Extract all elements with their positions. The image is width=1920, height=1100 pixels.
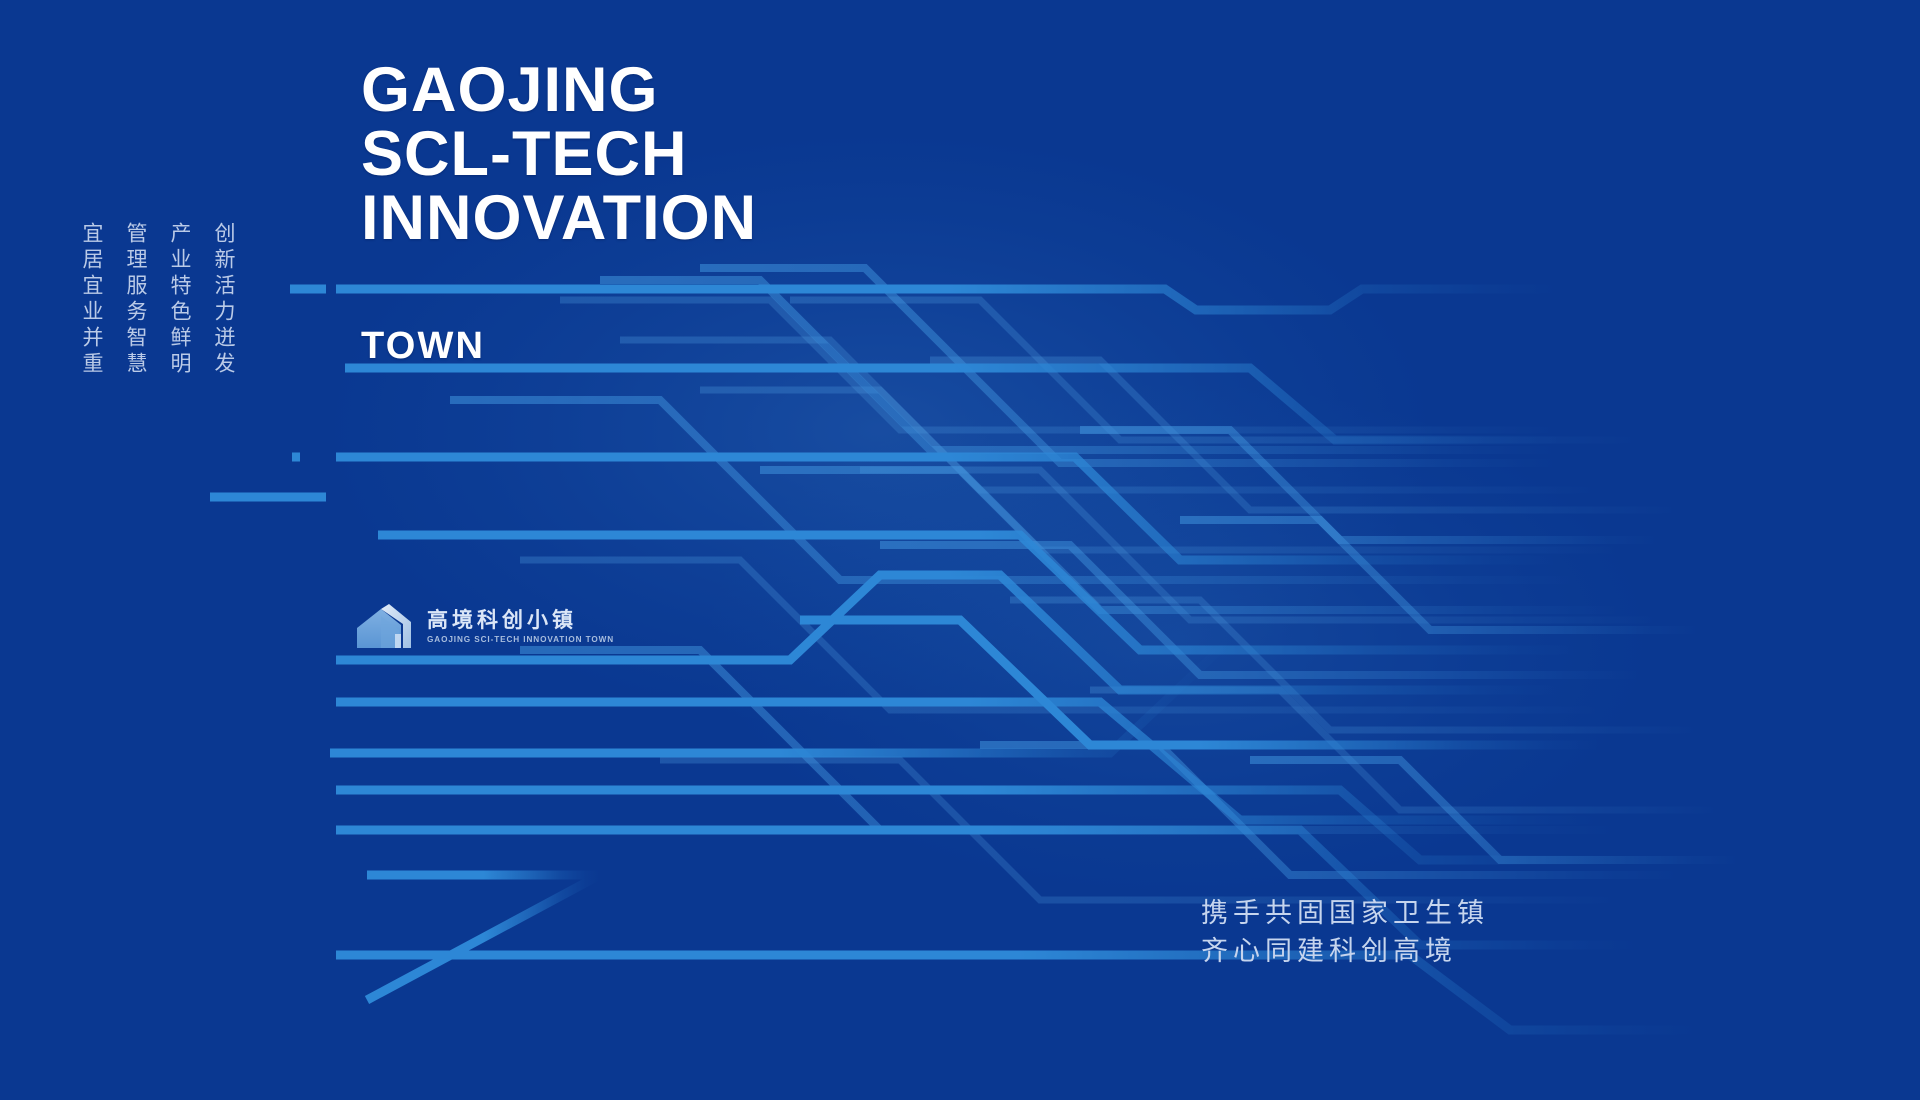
vertical-slogan-col-1: 创新活力迸发 (212, 222, 236, 378)
vertical-slogan-col-2: 产业特色鲜明 (168, 222, 192, 378)
title-line-3: INNOVATION (361, 186, 757, 250)
logo-english-name: GAOJING SCI-TECH INNOVATION TOWN (427, 634, 614, 646)
title-line-1: GAOJING (361, 58, 757, 122)
circuit-line-artwork (0, 0, 1920, 1100)
logo: 高境科创小镇 GAOJING SCI-TECH INNOVATION TOWN (355, 604, 614, 651)
logo-text-group: 高境科创小镇 GAOJING SCI-TECH INNOVATION TOWN (427, 609, 614, 646)
bottom-slogan-line-1: 携手共固国家卫生镇 (1201, 895, 1489, 933)
vertical-slogan-col-4: 宜居宜业并重 (80, 222, 104, 378)
page-title: GAOJING SCL-TECH INNOVATION (361, 58, 757, 250)
vertical-slogan-col-3: 管理服务智慧 (124, 222, 148, 378)
title-line-4: TOWN (361, 325, 485, 368)
vertical-slogan-block: 创新活力迸发 产业特色鲜明 管理服务智慧 宜居宜业并重 (80, 222, 236, 378)
bottom-slogan-block: 携手共固国家卫生镇 齐心同建科创高境 (1201, 895, 1489, 971)
title-line-2: SCL-TECH (361, 122, 757, 186)
house-building-icon (355, 604, 417, 651)
poster-canvas: 创新活力迸发 产业特色鲜明 管理服务智慧 宜居宜业并重 GAOJING SCL-… (0, 0, 1920, 1100)
bottom-slogan-line-2: 齐心同建科创高境 (1201, 933, 1489, 971)
logo-chinese-name: 高境科创小镇 (427, 609, 614, 632)
